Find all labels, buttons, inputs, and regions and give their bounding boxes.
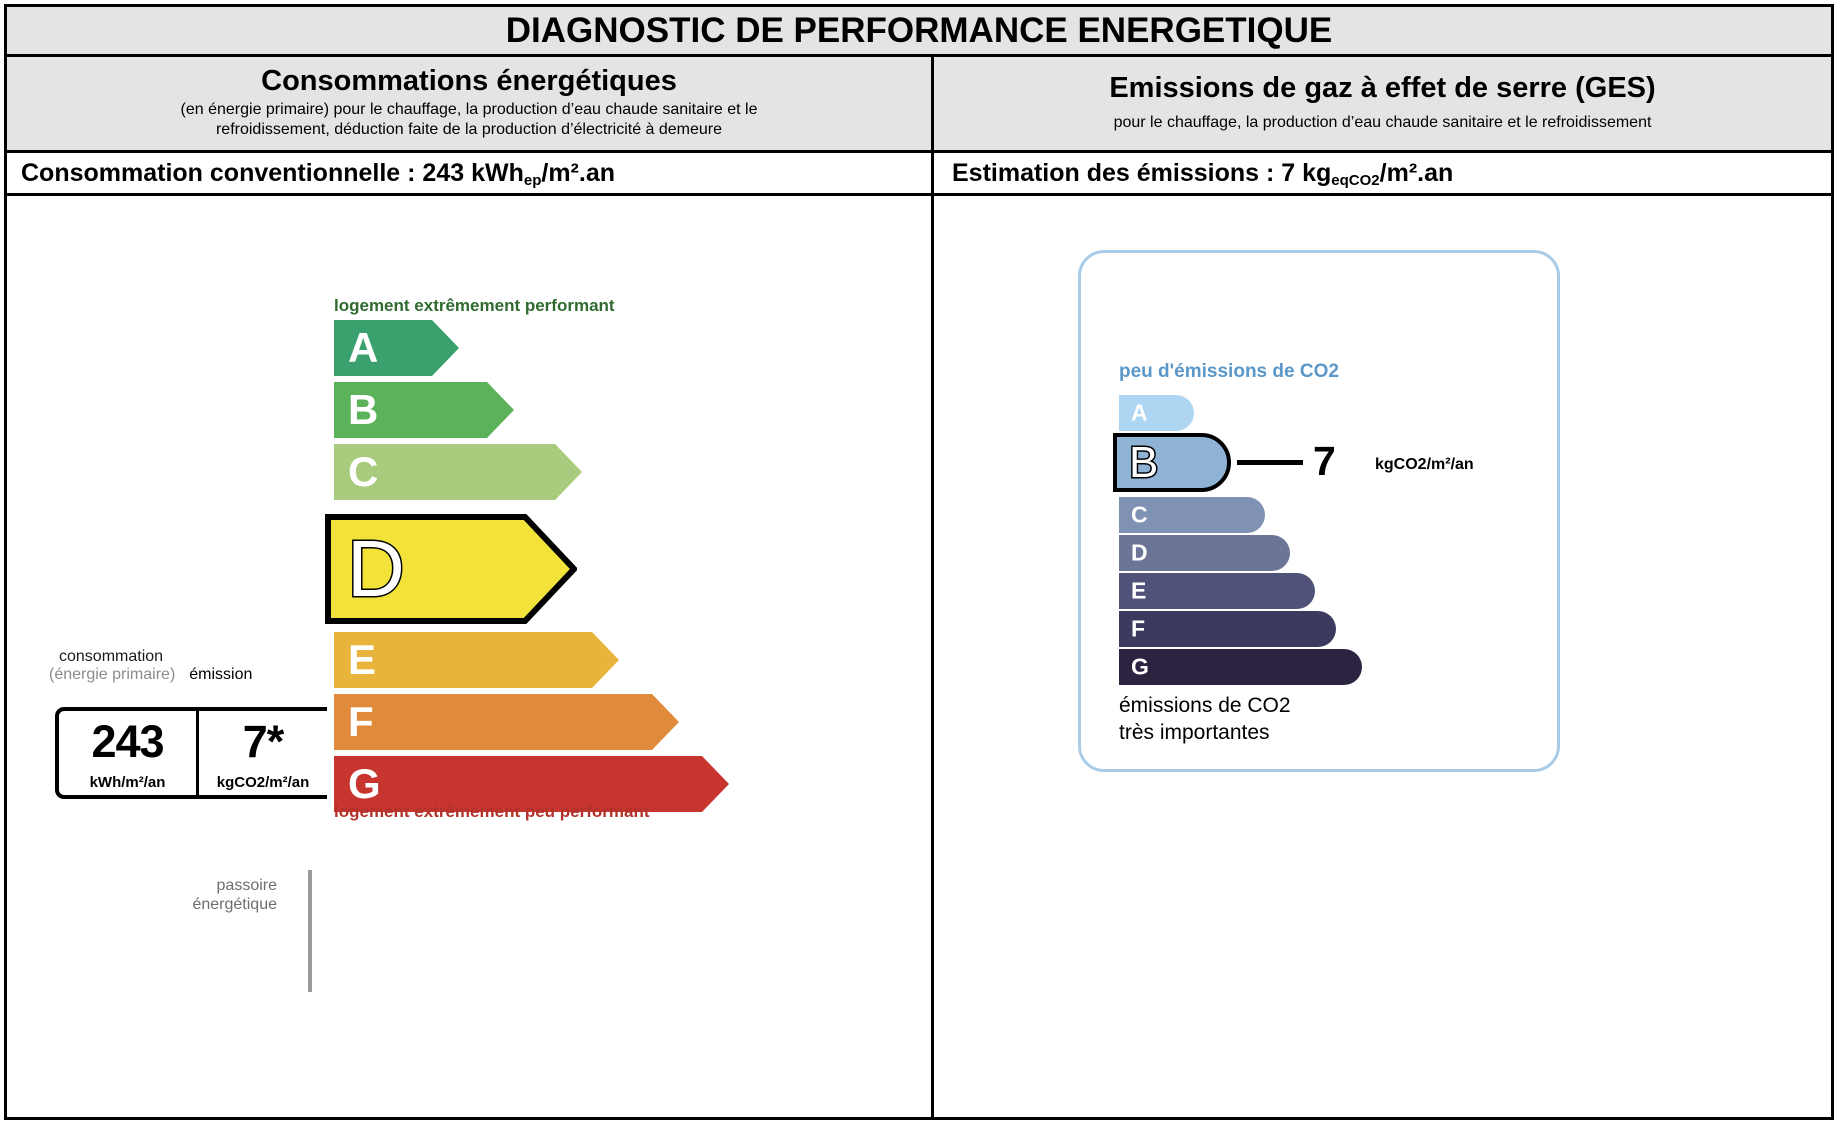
ges-band-f-letter: F <box>1131 618 1145 641</box>
energy-panel-subheading-line2: refroidissement, déduction faite de la p… <box>216 121 722 138</box>
passoire-line-1: passoire <box>183 876 277 895</box>
energy-badge-legend-emission: émission <box>189 666 252 684</box>
energy-band-f: F <box>334 694 679 750</box>
panel-values-row: Consommation conventionnelle : 243 kWhep… <box>7 153 1831 196</box>
ges-leader-line <box>1237 460 1303 465</box>
ges-band-b-letter: B <box>1129 441 1158 485</box>
ges-band-g-letter: G <box>1131 656 1149 679</box>
ges-emission-unit-end: .an <box>1417 159 1453 187</box>
ges-panel-heading-cell: Emissions de gaz à effet de serre (GES) … <box>934 57 1831 150</box>
ges-caption-bottom-line2: très importantes <box>1119 720 1291 747</box>
energy-consumption-value: 243 <box>422 159 464 187</box>
ges-rounded-frame: peu d'émissions de CO2 A B 7 kgCO2/m²/an <box>1078 250 1560 772</box>
energy-panel-heading-cell: Consommations énergétiques (en énergie p… <box>7 57 934 150</box>
ges-caption-top: peu d'émissions de CO2 <box>1119 361 1339 383</box>
ges-band-d: D <box>1119 535 1290 571</box>
ges-value-cell: Estimation des émissions : 7 kgeqCO2/m².… <box>934 153 1831 193</box>
ges-scale-chart: peu d'émissions de CO2 A B 7 kgCO2/m²/an <box>934 196 1831 1117</box>
energy-band-e-letter: E <box>348 639 376 681</box>
ges-band-g: G <box>1119 649 1362 685</box>
energy-band-d-current: D <box>325 514 577 624</box>
ges-band-a: A <box>1119 395 1194 431</box>
ges-band-a-letter: A <box>1131 402 1148 425</box>
energy-band-c-letter: C <box>348 451 378 493</box>
ges-band-e-letter: E <box>1131 580 1146 603</box>
energy-caption-top: logement extrêmement performant <box>334 296 615 316</box>
energy-consumption-unit-sub: ep <box>524 172 542 189</box>
energy-band-d-letter: D <box>347 529 405 609</box>
passoire-energetique-label: passoire énergétique <box>183 876 277 914</box>
energy-consumption-unit-end: .an <box>579 159 615 187</box>
panel-headings-row: Consommations énergétiques (en énergie p… <box>7 57 1831 153</box>
energy-scale-chart: logement extrêmement performant A B <box>7 196 934 1117</box>
dpe-table: DIAGNOSTIC DE PERFORMANCE ENERGETIQUE Co… <box>4 4 1834 1120</box>
energy-consumption-statement: Consommation conventionnelle : 243 kWhep… <box>21 161 615 186</box>
ges-band-c-letter: C <box>1131 504 1148 527</box>
ges-emission-unit-main: kg <box>1295 159 1331 187</box>
energy-panel-heading: Consommations énergétiques <box>261 65 677 97</box>
energy-caption-bottom: logement extrêmement peu performant <box>334 802 650 822</box>
ges-band-f: F <box>1119 611 1336 647</box>
energy-badge-legend: consommation (énergie primaire) émission <box>49 648 339 685</box>
energy-consumption-unit-main: kWh <box>464 159 524 187</box>
energy-value-cell: Consommation conventionnelle : 243 kWhep… <box>7 153 934 193</box>
ges-current-value: 7 <box>1313 441 1336 482</box>
energy-band-a-letter: A <box>348 327 378 369</box>
energy-badge-emission: 7* kgCO2/m²/an <box>196 711 327 795</box>
ges-emission-value: 7 <box>1281 159 1295 187</box>
ges-emission-label: Estimation des émissions : <box>952 159 1281 187</box>
energy-band-a: A <box>334 320 459 376</box>
energy-band-b-letter: B <box>348 389 378 431</box>
ges-caption-bottom-line1: émissions de CO2 <box>1119 693 1291 720</box>
energy-band-c: C <box>334 444 582 500</box>
passoire-line-2: énergétique <box>183 895 277 914</box>
ges-panel-subheading: pour le chauffage, la production d’eau c… <box>1114 113 1652 133</box>
energy-band-e: E <box>334 632 619 688</box>
energy-badge-consumption: 243 kWh/m²/an <box>59 711 196 795</box>
energy-badge-emission-unit: kgCO2/m²/an <box>217 775 310 790</box>
energy-value-badge: 243 kWh/m²/an 7* kgCO2/m²/an <box>55 707 327 799</box>
passoire-bracket-bar <box>308 870 312 992</box>
ges-emission-unit-sub: eqCO2 <box>1331 172 1379 189</box>
energy-badge-emission-value: 7* <box>243 719 284 764</box>
energy-badge-consumption-unit: kWh/m²/an <box>90 775 166 790</box>
ges-band-c: C <box>1119 497 1265 533</box>
energy-badge-legend-energie-primaire: (énergie primaire) <box>49 666 175 684</box>
ges-band-d-letter: D <box>1131 542 1148 565</box>
dpe-document: DIAGNOSTIC DE PERFORMANCE ENERGETIQUE Co… <box>0 0 1838 1124</box>
panels-body-row: logement extrêmement performant A B <box>7 196 1831 1117</box>
ges-panel-heading: Emissions de gaz à effet de serre (GES) <box>1109 72 1655 104</box>
energy-band-f-letter: F <box>348 701 374 743</box>
energy-band-g-letter: G <box>348 763 381 805</box>
energy-badge-legend-consommation: consommation <box>59 648 339 666</box>
document-title-bar: DIAGNOSTIC DE PERFORMANCE ENERGETIQUE <box>7 7 1831 57</box>
energy-consumption-label: Consommation conventionnelle : <box>21 159 422 187</box>
energy-consumption-unit-tail: /m² <box>541 159 579 187</box>
document-title: DIAGNOSTIC DE PERFORMANCE ENERGETIQUE <box>506 13 1332 48</box>
energy-badge-consumption-value: 243 <box>91 719 163 764</box>
ges-panel-body: peu d'émissions de CO2 A B 7 kgCO2/m²/an <box>934 196 1831 1117</box>
energy-panel-subheading-line1: (en énergie primaire) pour le chauffage,… <box>181 101 758 118</box>
ges-emission-unit-tail: /m² <box>1380 159 1418 187</box>
energy-panel-subheading: (en énergie primaire) pour le chauffage,… <box>181 100 758 140</box>
energy-band-f-shape <box>334 694 679 750</box>
ges-caption-bottom: émissions de CO2 très importantes <box>1119 693 1291 747</box>
ges-band-e: E <box>1119 573 1315 609</box>
ges-band-b-current: B <box>1113 433 1231 492</box>
energy-band-b: B <box>334 382 514 438</box>
energy-panel-body: logement extrêmement performant A B <box>7 196 934 1117</box>
energy-band-e-shape <box>334 632 619 688</box>
ges-emission-statement: Estimation des émissions : 7 kgeqCO2/m².… <box>952 161 1453 186</box>
ges-current-unit: kgCO2/m²/an <box>1375 457 1474 473</box>
